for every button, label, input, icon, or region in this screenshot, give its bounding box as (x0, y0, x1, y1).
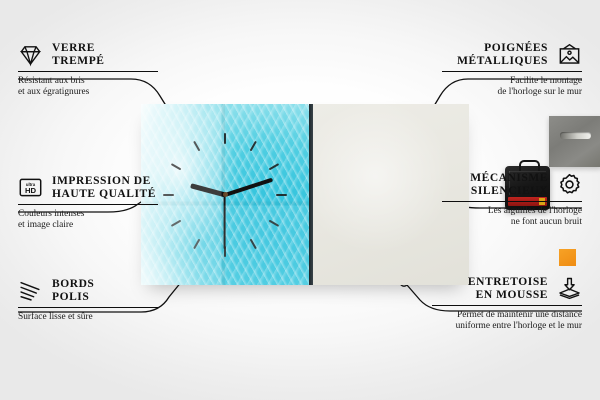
gear-icon (557, 172, 582, 197)
clock-tick (224, 133, 226, 195)
feature-rule (18, 307, 158, 308)
clock-tick (224, 140, 257, 195)
polished-edges-icon (18, 278, 43, 303)
feature-title: POIGNÉES MÉTALLIQUES (457, 42, 548, 67)
clock-tick (225, 163, 280, 196)
foam-spacer (559, 249, 576, 266)
hour-hand (190, 183, 226, 197)
mechanism-hanger-loop (519, 160, 540, 171)
second-hand (224, 195, 226, 249)
feature-poignees-metalliques: POIGNÉES MÉTALLIQUES Facilite le montage… (432, 42, 582, 98)
feature-description: Facilite le montage de l'horloge sur le … (432, 76, 582, 98)
feature-title: MÉCANISME SILENCIEUX (470, 172, 548, 197)
clock-tick (171, 194, 226, 227)
feature-description: Les aiguilles de l'horloge ne font aucun… (432, 206, 582, 228)
feature-description: Couleurs intenses et image claire (18, 209, 168, 231)
handle-slot (560, 132, 591, 139)
feature-description: Résistant aux bris et aux égratignures (18, 76, 168, 98)
feature-bords-polis: BORDS POLIS Surface lisse et sûre (18, 278, 168, 323)
clock-tick (193, 140, 226, 195)
feature-description: Surface lisse et sûre (18, 312, 168, 323)
feature-rule (442, 71, 582, 72)
picture-frame-hook-icon (557, 42, 582, 67)
clock-tick (171, 163, 226, 196)
metallic-handle (549, 116, 600, 167)
feature-description: Permet de maintenir une distance uniform… (422, 310, 582, 332)
product-photo (141, 104, 469, 285)
foam-spacer-icon (557, 276, 582, 301)
feature-title: VERRE TREMPÉ (52, 42, 105, 67)
clock-tick (225, 194, 280, 227)
clock-tick (224, 195, 226, 257)
minute-hand (224, 177, 273, 196)
feature-rule (18, 204, 158, 205)
feature-rule (442, 201, 582, 202)
feature-impression-hd: ultra HD IMPRESSION DE HAUTE QUALITÉ Cou… (18, 175, 168, 231)
clock-tick (225, 194, 287, 196)
infographic-canvas: VERRE TREMPÉ Résistant aux bris et aux é… (0, 0, 600, 400)
clock-tick (224, 194, 257, 249)
svg-text:HD: HD (25, 186, 37, 195)
feature-entretoise-en-mousse: ENTRETOISE EN MOUSSE Permet de maintenir… (422, 276, 582, 332)
feature-verre-trempe: VERRE TREMPÉ Résistant aux bris et aux é… (18, 42, 168, 98)
clock-tick (193, 194, 226, 249)
diamond-icon (18, 42, 43, 67)
clock-tick (163, 194, 225, 196)
ultra-hd-icon: ultra HD (18, 175, 43, 200)
clock-hub (223, 192, 228, 197)
feature-title: IMPRESSION DE HAUTE QUALITÉ (52, 175, 156, 200)
feature-mecanisme-silencieux: MÉCANISME SILENCIEUX Les aiguilles de l'… (432, 172, 582, 228)
feature-rule (18, 71, 158, 72)
feature-title: BORDS POLIS (52, 278, 94, 303)
feature-title: ENTRETOISE EN MOUSSE (468, 276, 548, 301)
feature-rule (432, 305, 582, 306)
